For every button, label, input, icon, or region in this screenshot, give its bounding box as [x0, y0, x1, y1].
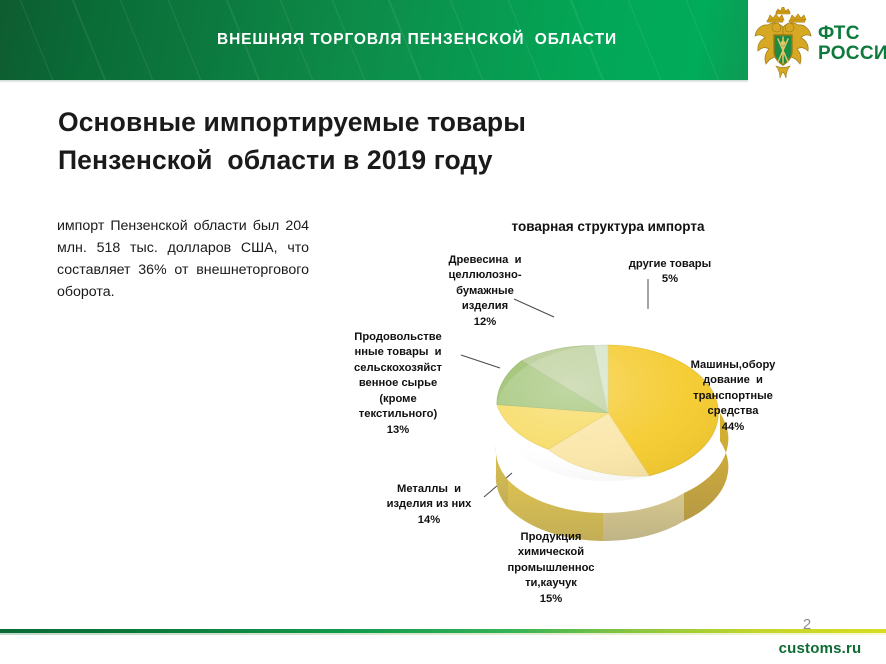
slide-header: ВНЕШНЯЯ ТОРГОВЛЯ ПЕНЗЕНСКОЙ ОБЛАСТИ	[0, 0, 886, 88]
site-url: customs.ru	[760, 640, 880, 657]
footer-rule	[0, 629, 886, 633]
header-banner-title: ВНЕШНЯЯ ТОРГОВЛЯ ПЕНЗЕНСКОЙ ОБЛАСТИ	[0, 0, 748, 80]
intro-paragraph: импорт Пензенской области был 204 млн. 5…	[57, 215, 309, 303]
page-title: Основные импортируемые товары Пензенской…	[58, 104, 678, 179]
pie-label-other: другие товары 5%	[616, 257, 724, 288]
page-title-line2: Пензенской области в 2019 году	[58, 142, 678, 180]
pie-label-wood: Древесина и целлюлозно- бумажные изделия…	[430, 253, 540, 330]
fts-russia-logo: ФТС РОССИИ	[752, 4, 882, 84]
pie-label-food: Продовольстве нные товары и сельскохозяй…	[338, 330, 458, 438]
fts-logo-line1: ФТС	[818, 24, 886, 44]
fts-logo-text: ФТС РОССИИ	[818, 24, 886, 64]
page-number: 2	[795, 616, 819, 633]
page-title-line1: Основные импортируемые товары	[58, 104, 678, 142]
pie-label-metals: Металлы и изделия из них 14%	[368, 482, 490, 528]
import-structure-pie-chart: товарная структура импорта	[318, 205, 886, 615]
fts-logo-line2: РОССИИ	[818, 44, 886, 64]
pie-label-machines: Машины,обору дование и транспортные сред…	[670, 358, 796, 435]
pie-label-chemicals: Продукция химической промышленнос ти,кау…	[486, 530, 616, 607]
header-shadow	[0, 80, 748, 83]
russian-double-headed-eagle-icon	[752, 7, 814, 81]
